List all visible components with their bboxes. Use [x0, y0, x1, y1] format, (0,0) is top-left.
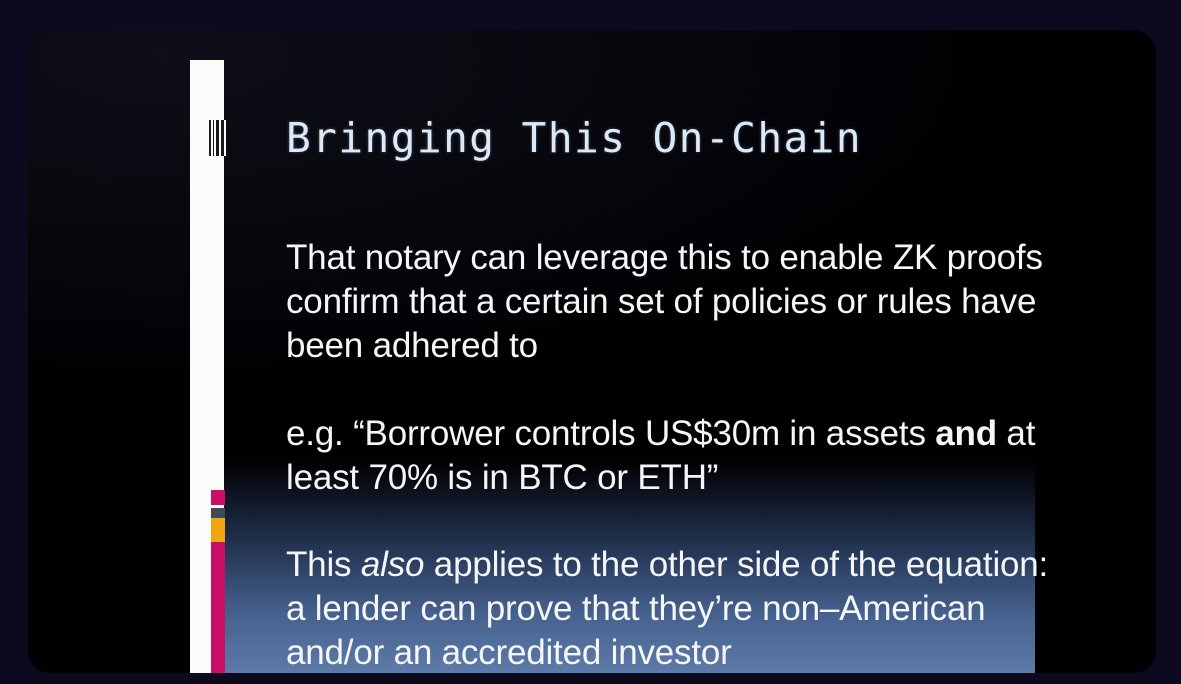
- spine-chip-amber: [211, 518, 225, 542]
- paragraph-3-lead: This: [286, 545, 361, 584]
- paragraph-2-emphasis: and: [935, 414, 997, 453]
- body-paragraph-2: e.g. “Borrower controls US$30m in assets…: [286, 412, 1046, 500]
- spine-chip-pink: [211, 490, 225, 505]
- body-paragraph-3: This also applies to the other side of t…: [286, 543, 1061, 673]
- slide-surface: Bringing This On-Chain That notary can l…: [28, 30, 1156, 673]
- slide-title: Bringing This On-Chain: [286, 114, 862, 162]
- paragraph-3-emphasis: also: [361, 545, 424, 584]
- paragraph-2-lead: e.g. “Borrower controls US$30m in assets: [286, 414, 935, 453]
- body-paragraph-1: That notary can leverage this to enable …: [286, 236, 1046, 368]
- presentation-stage: Bringing This On-Chain That notary can l…: [0, 0, 1181, 684]
- barcode-icon: [209, 120, 226, 156]
- spine-chip-magenta: [211, 542, 225, 673]
- slide-content: Bringing This On-Chain That notary can l…: [286, 60, 1076, 673]
